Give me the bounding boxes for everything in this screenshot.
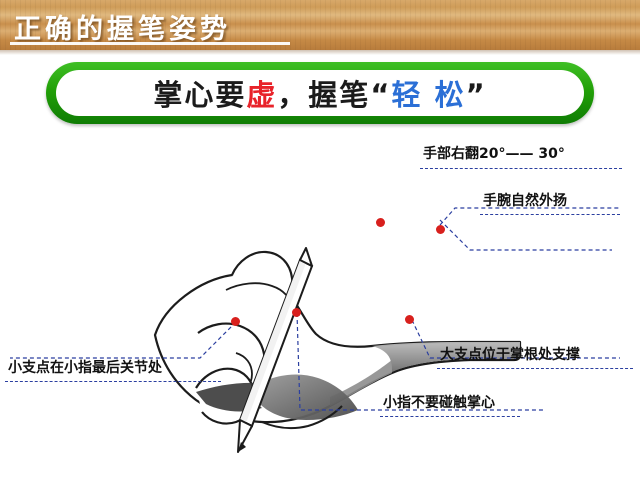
subtitle-quote-open: “ (370, 78, 391, 112)
annotation-major-support-rule (437, 368, 633, 369)
slide-root: 正确的握笔姿势 掌心要虚，握笔“轻 松” (0, 0, 640, 479)
annotation-hand-tilt: 手部右翻20°—— 30° (423, 147, 565, 162)
marker-dot-pinky-no-touch (292, 308, 301, 317)
annotation-hand-tilt-rule (420, 168, 622, 169)
annotation-wrist-outward: 手腕自然外扬 (483, 194, 567, 209)
subtitle-highlight-blue: 轻 松 (391, 78, 465, 112)
annotation-major-support: 大支点位于掌根处支撑 (440, 348, 580, 363)
subtitle-part1: 掌心要 (153, 78, 246, 112)
annotation-pinky-no-touch-rule (380, 416, 520, 417)
hand-illustration (0, 120, 640, 479)
subtitle-quote-close: ” (466, 78, 487, 112)
marker-dot-hand-tilt (376, 218, 385, 227)
subtitle-pill-inner: 掌心要虚，握笔“轻 松” (56, 70, 584, 116)
annotation-minor-support-rule (5, 381, 221, 382)
annotation-wrist-outward-rule (480, 214, 620, 215)
annotation-pinky-no-touch: 小指不要碰触掌心 (383, 396, 495, 411)
subtitle-highlight-red: 虚 (246, 78, 277, 112)
marker-dot-minor-support (231, 317, 240, 326)
title-underline (10, 42, 290, 45)
page-title: 正确的握笔姿势 (14, 7, 231, 46)
marker-dot-major-support (405, 315, 414, 324)
subtitle-part2: ，握笔 (277, 78, 370, 112)
marker-dot-wrist-outward (436, 225, 445, 234)
subtitle-text: 掌心要虚，握笔“轻 松” (153, 72, 486, 114)
header-banner: 正确的握笔姿势 (0, 0, 640, 50)
banner-shadow (0, 50, 640, 55)
subtitle-pill: 掌心要虚，握笔“轻 松” (46, 62, 594, 124)
annotation-minor-support: 小支点在小指最后关节处 (8, 361, 162, 376)
